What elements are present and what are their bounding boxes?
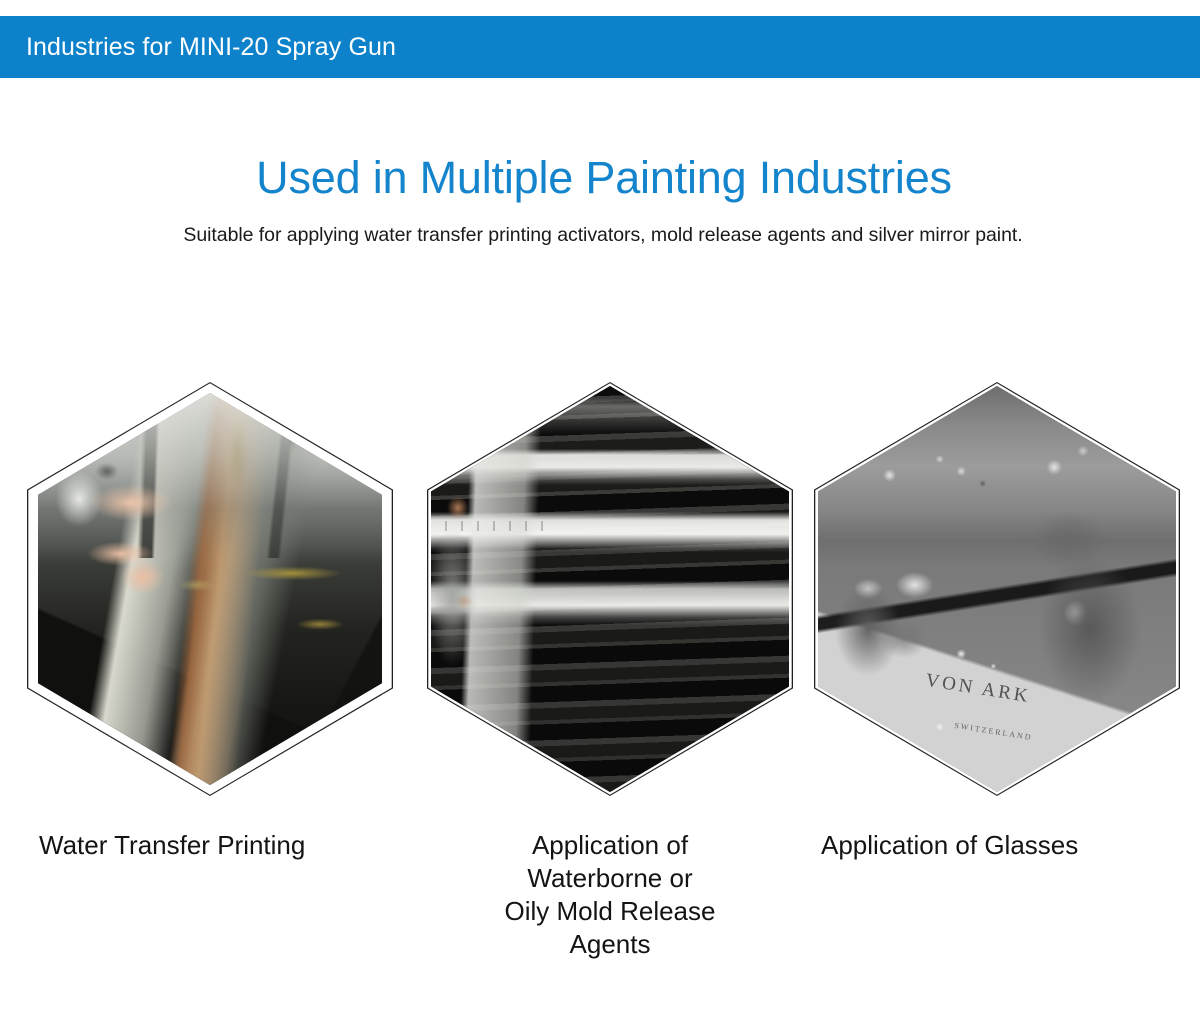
glasses-assembly-photo: VON ARK SWITZERLAND — [818, 386, 1176, 792]
workbench-mat-country-text: SWITZERLAND — [954, 721, 1033, 742]
page-header-bar: Industries for MINI-20 Spray Gun — [0, 16, 1200, 78]
industry-hexagon-glasses: VON ARK SWITZERLAND — [814, 382, 1180, 796]
hero-subtitle: Suitable for applying water transfer pri… — [3, 206, 1200, 249]
hexagon-photo-mask — [38, 393, 382, 785]
hexagon-photo-mask: VON ARK SWITZERLAND — [818, 386, 1176, 792]
industry-hexagon-row: VON ARK SWITZERLAND — [0, 382, 1200, 797]
industry-caption-glasses: Application of Glasses — [821, 829, 1078, 862]
water-transfer-printing-tank-photo — [38, 393, 382, 785]
hexagon-photo-mask — [431, 386, 789, 792]
hero-section: Used in Multiple Painting Industries Sui… — [0, 150, 1200, 249]
industry-caption-water-transfer-printing: Water Transfer Printing — [39, 829, 305, 862]
industry-hexagon-mold-release — [427, 382, 793, 796]
workbench-mat-brand-text: VON ARK — [924, 670, 1032, 708]
industry-caption-mold-release: Application of Waterborne or Oily Mold R… — [427, 829, 793, 961]
industry-hexagon-water-transfer-printing — [27, 382, 393, 796]
page-header-title: Industries for MINI-20 Spray Gun — [26, 32, 396, 62]
hero-heading: Used in Multiple Painting Industries — [4, 150, 1200, 206]
mold-release-agent-racks-photo — [431, 386, 789, 792]
